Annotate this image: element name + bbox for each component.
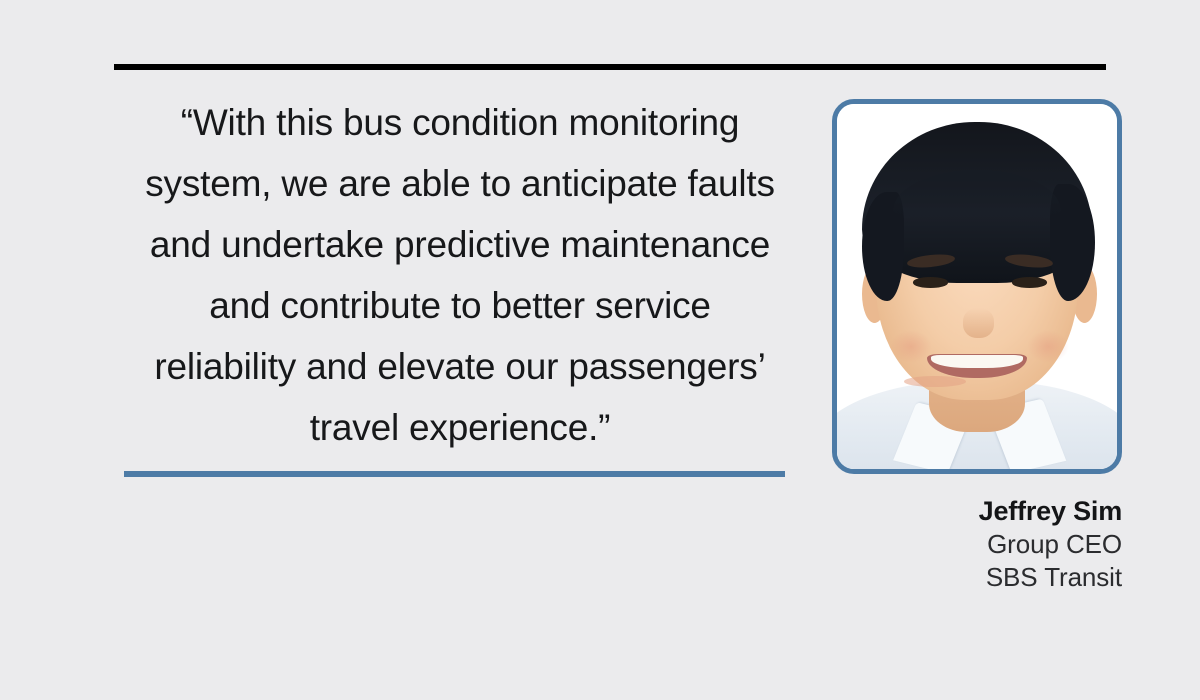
attribution-role: Group CEO [702, 528, 1122, 561]
lower-lip-shape [904, 376, 966, 387]
teeth-shape [931, 355, 1024, 368]
attribution-name: Jeffrey Sim [702, 494, 1122, 528]
quote-line-3: and undertake predictive maintenance [110, 214, 810, 275]
eye-left-shape [913, 277, 948, 287]
quote-line-1: “With this bus condition monitoring [110, 92, 810, 153]
bottom-divider-rule [124, 471, 785, 477]
attribution-block: Jeffrey Sim Group CEO SBS Transit [702, 494, 1122, 594]
quote-line-4: and contribute to better service [110, 275, 810, 336]
portrait-frame [832, 99, 1122, 474]
quote-card: “With this bus condition monitoring syst… [0, 0, 1200, 700]
cheek-right-shape [1027, 330, 1069, 363]
top-divider-rule [114, 64, 1106, 70]
quote-line-6: travel experience.” [110, 397, 810, 458]
quote-line-5: reliability and elevate our passengers’ [110, 336, 810, 397]
quote-text-block: “With this bus condition monitoring syst… [110, 92, 810, 458]
portrait-photo [837, 104, 1117, 469]
nose-shape [963, 308, 994, 337]
attribution-organization: SBS Transit [702, 561, 1122, 594]
quote-line-2: system, we are able to anticipate faults [110, 153, 810, 214]
eye-right-shape [1012, 277, 1047, 287]
